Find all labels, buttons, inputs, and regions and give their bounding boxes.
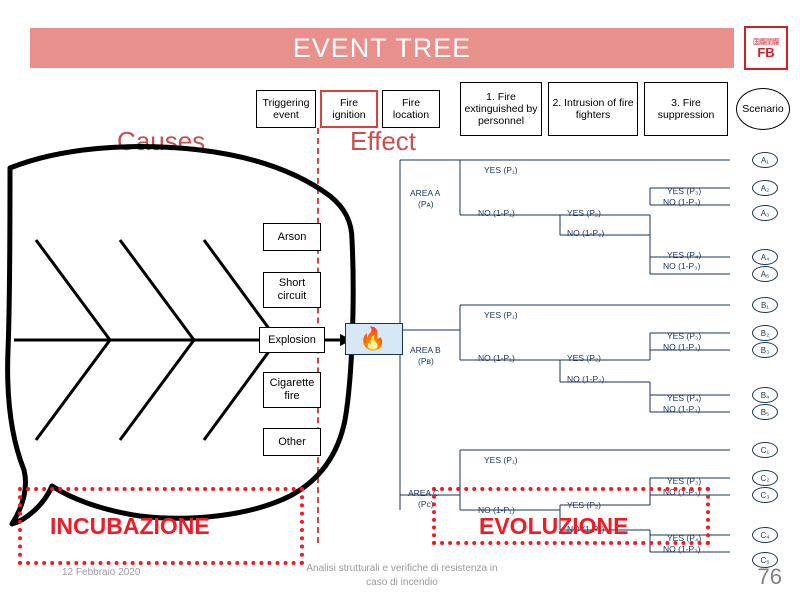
header-label: Scenario [742,103,783,115]
cause-box-arson: Arson [263,223,321,251]
header-intrusion-of-fire-fighters: 2. Intrusion of fire fighters [548,82,638,136]
scenario-b5: B₅ [752,404,778,420]
area-b-yes-p4: YES (P₄) [667,393,701,403]
area-a-yes-p1: YES (P₁) [484,165,518,175]
area-c-yes-p3: YES (P₃) [667,476,701,486]
slide-title-bar: EVENT TREE [30,28,734,68]
cause-label: Short circuit [264,277,320,303]
footer-subtitle-line1: Analisi strutturali e verifiche di resis… [282,563,522,574]
cause-box-cigarette-fire: Cigarette fire [263,372,321,408]
cause-label: Arson [278,231,307,244]
area-a-no-p1: NO (1-P₁) [478,208,515,218]
area-c-no-p3-lower: NO (1-P₃) [663,544,700,554]
header-label: 3. Fire suppression [647,97,725,121]
scenario-a1: A₁ [752,152,778,168]
area-a-prob: (Pᴀ) [418,199,434,209]
scenario-b4: B₄ [752,387,778,403]
scenario-c1: C₁ [752,442,778,458]
area-b-name: AREA B [410,345,441,355]
header-label: 2. Intrusion of fire fighters [551,97,635,121]
area-b-yes-p2: YES (P₂) [567,353,601,363]
area-b-no-p1: NO (1-P₁) [478,353,515,363]
scenario-b1: B₁ [752,297,778,313]
area-b-no-p3: NO (1-P₃) [663,342,700,352]
scenario-a4: A₄ [752,249,778,265]
area-b-no-p3-lower: NO (1-P₃) [663,404,700,414]
header-label: 1. Fire extinguished by personnel [463,91,539,127]
area-a-name: AREA A [410,188,440,198]
cause-box-explosion: Explosion [259,327,325,353]
area-c-yes-p1: YES (P₁) [484,455,518,465]
header-fire-extinguished-by-personnel: 1. Fire extinguished by personnel [460,82,542,136]
scenario-c3: C₃ [752,487,778,503]
area-a-no-p2: NO (1-P₂) [567,228,604,238]
area-b-prob: (Pʙ) [418,356,434,366]
area-a-yes-p3: YES (P₃) [667,186,701,196]
header-scenario: Scenario [736,88,790,130]
effect-label: Effect [350,126,416,157]
logo-bottom-text: FB [757,46,774,59]
flame-icon: 🔥 [359,326,386,352]
header-fire-ignition: Fire ignition [320,90,378,128]
cause-box-other: Other [263,428,321,456]
area-a-yes-p2: YES (P₂) [567,208,601,218]
cause-box-short-circuit: Short circuit [263,272,321,308]
header-label: Triggering event [259,97,313,121]
footer-subtitle-line2: caso di incendio [282,577,522,588]
scenario-a5: A₅ [752,266,778,282]
header-fire-location: Fire location [382,90,440,128]
area-b-no-p2: NO (1-P₂) [567,374,604,384]
causes-label: Causes [117,126,205,157]
cause-label: Cigarette fire [264,377,320,403]
area-b-yes-p3: YES (P₃) [667,331,701,341]
header-label: Fire ignition [324,97,374,121]
header-triggering-event: Triggering event [256,90,316,128]
scenario-a2: A₂ [752,180,778,196]
page-number: 76 [758,564,782,590]
scenario-a3: A₃ [752,205,778,221]
scenario-b2: B₂ [752,325,778,341]
scenario-b3: B₃ [752,342,778,358]
header-fire-suppression: 3. Fire suppression [644,82,728,136]
area-a-yes-p4: YES (P₄) [667,250,701,260]
fb-logo: 国龎閨龎 FB [744,26,788,70]
footer-date: 12 Febbraio 2020 [62,567,140,578]
scenario-c2: C₂ [752,470,778,486]
cause-label: Other [278,436,306,449]
area-b-yes-p1: YES (P₁) [484,310,518,320]
cause-label: Explosion [268,334,316,347]
incubazione-label: INCUBAZIONE [50,513,210,540]
header-label: Fire location [385,97,437,121]
scenario-c4: C₄ [752,527,778,543]
evoluzione-label: EVOLUZIONE [479,513,629,540]
page-title: EVENT TREE [293,33,472,64]
area-a-no-p3: NO (1-P₃) [663,197,700,207]
area-a-no-p3-lower: NO (1-P₃) [663,261,700,271]
